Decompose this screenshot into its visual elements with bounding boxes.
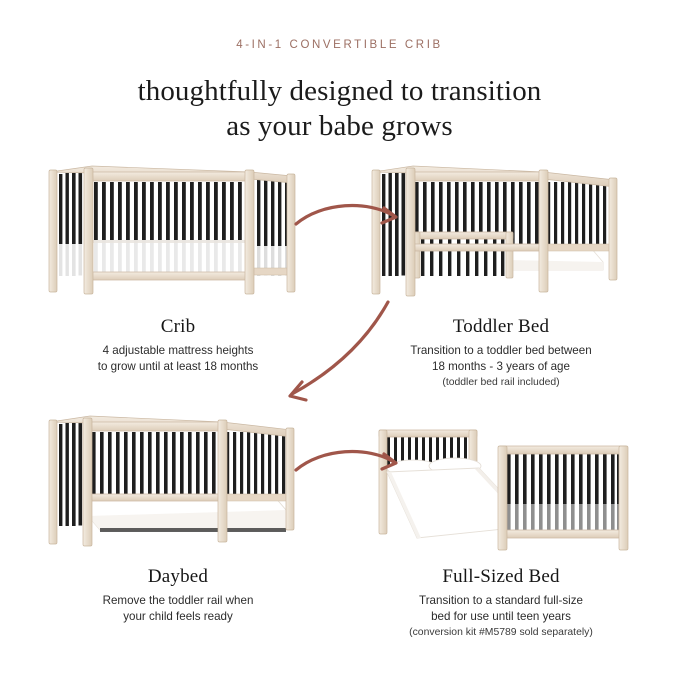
headline-line-1: thoughtfully designed to transition [0,74,679,109]
stage-title: Crib [28,316,328,338]
crib-illustration [28,158,328,308]
stage-caption: Transition to a toddler bed between 18 m… [351,343,651,390]
stage-full-sized-bed: Full-Sized Bed Transition to a standard … [351,408,651,640]
caption-line: bed for use until teen years [351,609,651,625]
page-title: thoughtfully designed to transition as y… [0,74,679,144]
stage-toddler-bed: Toddler Bed Transition to a toddler bed … [351,158,651,390]
headline-line-2: as your babe grows [0,109,679,144]
stage-caption: Remove the toddler rail when your child … [28,593,328,625]
full-sized-bed-illustration [351,408,651,558]
caption-line: 4 adjustable mattress heights [28,343,328,359]
eyebrow-label: 4-IN-1 CONVERTIBLE CRIB [0,39,679,51]
stage-caption: 4 adjustable mattress heights to grow un… [28,343,328,375]
caption-line: to grow until at least 18 months [28,359,328,375]
caption-note: (toddler bed rail included) [351,375,651,390]
caption-line: 18 months - 3 years of age [351,359,651,375]
daybed-illustration [28,408,328,558]
caption-line: Transition to a toddler bed between [351,343,651,359]
stage-caption: Transition to a standard full-size bed f… [351,593,651,640]
stage-crib: Crib 4 adjustable mattress heights to gr… [28,158,328,375]
stage-title: Daybed [28,566,328,588]
caption-note: (conversion kit #M5789 sold separately) [351,625,651,640]
infographic-page: 4-IN-1 CONVERTIBLE CRIB thoughtfully des… [0,0,679,679]
stage-title: Full-Sized Bed [351,566,651,588]
stage-title: Toddler Bed [351,316,651,338]
caption-line: Remove the toddler rail when [28,593,328,609]
toddler-bed-illustration [351,158,651,308]
stage-daybed: Daybed Remove the toddler rail when your… [28,408,328,625]
caption-line: Transition to a standard full-size [351,593,651,609]
caption-line: your child feels ready [28,609,328,625]
